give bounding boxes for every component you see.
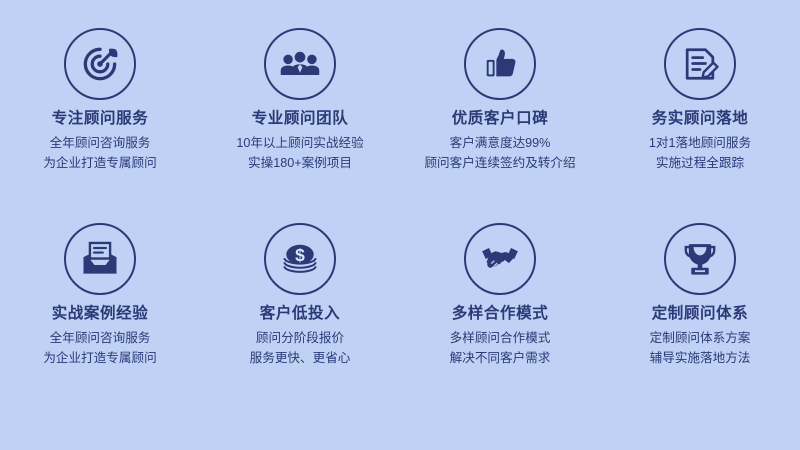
icon-circle-4 — [664, 28, 736, 100]
feature-card-1: 专注顾问服务 全年顾问咨询服务 为企业打造专属顾问 — [0, 28, 200, 223]
feature-title: 定制顾问体系 — [652, 304, 749, 323]
feature-grid: 专注顾问服务 全年顾问咨询服务 为企业打造专属顾问 专业顾问团队 10年 — [0, 0, 800, 450]
feature-line: 服务更快、更省心 — [250, 349, 351, 369]
icon-circle-2 — [264, 28, 336, 100]
handshake-icon — [478, 237, 522, 281]
feature-lines: 多样顾问合作模式 解决不同客户需求 — [450, 329, 551, 368]
feature-card-8: 定制顾问体系 定制顾问体系方案 辅导实施落地方法 — [600, 223, 800, 418]
feature-lines: 全年顾问咨询服务 为企业打造专属顾问 — [43, 134, 156, 173]
feature-line: 顾问客户连续签约及转介绍 — [424, 154, 575, 174]
feature-line: 10年以上顾问实战经验 — [236, 134, 363, 154]
inbox-tray-icon — [78, 237, 122, 281]
thumbs-up-icon — [478, 42, 522, 86]
feature-line: 客户满意度达99% — [424, 134, 575, 154]
coins-dollar-icon: $ — [278, 237, 322, 281]
feature-card-5: 实战案例经验 全年顾问咨询服务 为企业打造专属顾问 — [0, 223, 200, 418]
feature-title: 务实顾问落地 — [652, 109, 749, 128]
feature-line: 多样顾问合作模式 — [450, 329, 551, 349]
feature-lines: 顾问分阶段报价 服务更快、更省心 — [250, 329, 351, 368]
feature-line: 实操180+案例项目 — [236, 154, 363, 174]
feature-title: 多样合作模式 — [452, 304, 549, 323]
feature-lines: 1对1落地顾问服务 实施过程全跟踪 — [649, 134, 751, 173]
icon-circle-5 — [64, 223, 136, 295]
feature-title: 专注顾问服务 — [52, 109, 149, 128]
feature-card-7: 多样合作模式 多样顾问合作模式 解决不同客户需求 — [400, 223, 600, 418]
feature-line: 全年顾问咨询服务 — [43, 134, 156, 154]
icon-circle-8 — [664, 223, 736, 295]
target-arrow-icon — [78, 42, 122, 86]
document-pen-icon — [678, 42, 722, 86]
feature-line: 1对1落地顾问服务 — [649, 134, 751, 154]
feature-line: 定制顾问体系方案 — [650, 329, 751, 349]
team-people-icon — [278, 42, 322, 86]
feature-line: 解决不同客户需求 — [450, 349, 551, 369]
feature-lines: 全年顾问咨询服务 为企业打造专属顾问 — [43, 329, 156, 368]
feature-title: 客户低投入 — [260, 304, 341, 323]
feature-title: 专业顾问团队 — [252, 109, 349, 128]
feature-lines: 10年以上顾问实战经验 实操180+案例项目 — [236, 134, 363, 173]
icon-circle-1 — [64, 28, 136, 100]
feature-lines: 客户满意度达99% 顾问客户连续签约及转介绍 — [424, 134, 575, 173]
feature-line: 为企业打造专属顾问 — [43, 154, 156, 174]
icon-circle-6: $ — [264, 223, 336, 295]
feature-card-6: $ 客户低投入 顾问分阶段报价 服务更快、更省心 — [200, 223, 400, 418]
feature-line: 为企业打造专属顾问 — [43, 349, 156, 369]
feature-title: 优质客户口碑 — [452, 109, 549, 128]
feature-card-3: 优质客户口碑 客户满意度达99% 顾问客户连续签约及转介绍 — [400, 28, 600, 223]
icon-circle-3 — [464, 28, 536, 100]
feature-title: 实战案例经验 — [52, 304, 149, 323]
feature-line: 全年顾问咨询服务 — [43, 329, 156, 349]
feature-lines: 定制顾问体系方案 辅导实施落地方法 — [650, 329, 751, 368]
feature-line: 顾问分阶段报价 — [250, 329, 351, 349]
feature-line: 辅导实施落地方法 — [650, 349, 751, 369]
feature-line: 实施过程全跟踪 — [649, 154, 751, 174]
feature-card-2: 专业顾问团队 10年以上顾问实战经验 实操180+案例项目 — [200, 28, 400, 223]
trophy-icon — [678, 237, 722, 281]
feature-card-4: 务实顾问落地 1对1落地顾问服务 实施过程全跟踪 — [600, 28, 800, 223]
icon-circle-7 — [464, 223, 536, 295]
svg-text:$: $ — [295, 245, 305, 265]
